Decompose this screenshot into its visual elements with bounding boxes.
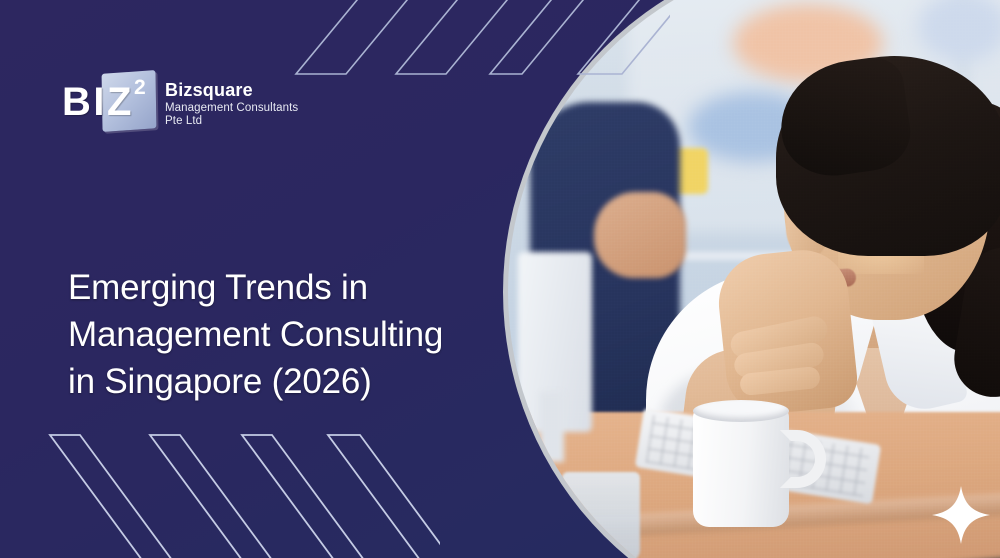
company-name: Bizsquare <box>165 80 298 101</box>
brand-logo[interactable]: BIZ 2 Bizsquare Management Consultants P… <box>62 72 298 134</box>
logo-superscript-two: 2 <box>134 76 146 100</box>
headline-line-1: Emerging Trends in <box>68 265 538 312</box>
page-title: Emerging Trends in Management Consulting… <box>68 265 538 405</box>
company-entity: Pte Ltd <box>165 115 298 129</box>
logo-biz-text: BIZ <box>62 80 134 125</box>
logo-mark: BIZ 2 <box>62 72 154 134</box>
headline-line-2: Management Consulting <box>68 312 538 359</box>
marketing-banner: BIZ 2 Bizsquare Management Consultants P… <box>0 0 1000 558</box>
hero-photo-circle <box>508 0 1000 558</box>
office-scene-photo <box>508 0 1000 558</box>
bottom-decorative-slashes <box>10 429 440 558</box>
company-descriptor: Management Consultants <box>165 102 298 116</box>
logo-wordmark: Bizsquare Management Consultants Pte Ltd <box>165 77 298 128</box>
headline-line-3: in Singapore (2026) <box>68 359 538 406</box>
photo-grain-overlay <box>508 0 1000 558</box>
sparkle-icon <box>930 484 992 551</box>
